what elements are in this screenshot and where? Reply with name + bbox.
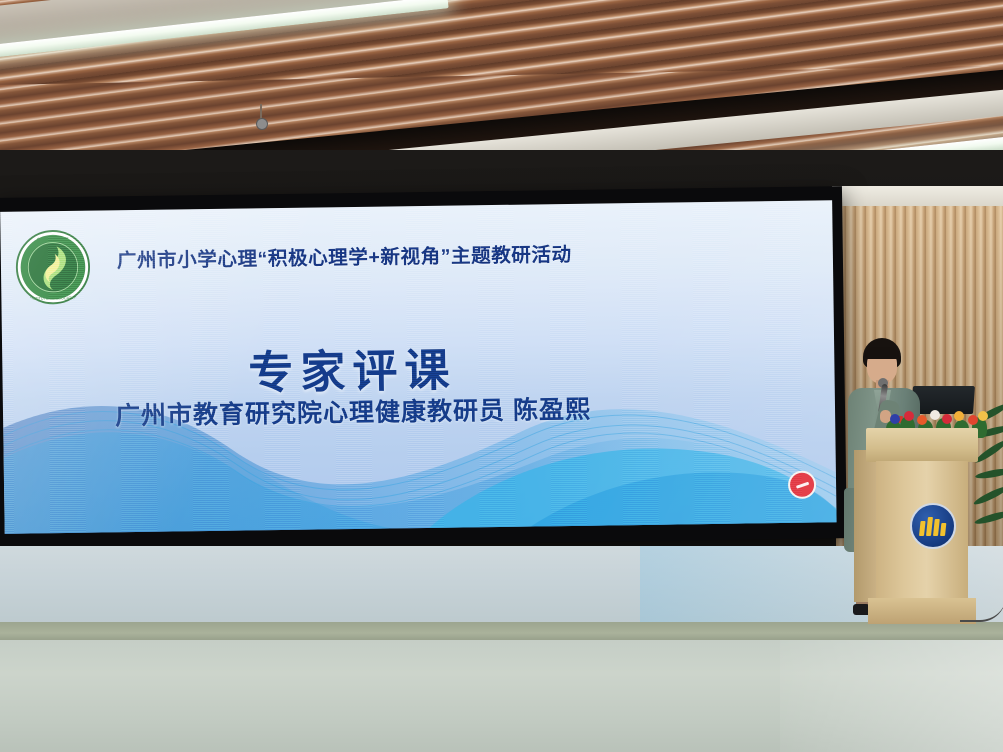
smoke-detector-icon [256,118,268,130]
guangzhou-institute-of-educational-research-logo: 广州市教育研究院 INSTITUTE OF EDUCATION [14,229,91,306]
led-screen-bezel: 广州市教育研究院 INSTITUTE OF EDUCATION 广州市小学心理“… [0,186,847,550]
led-screen: 广州市教育研究院 INSTITUTE OF EDUCATION 广州市小学心理“… [0,200,836,534]
svg-text:INSTITUTE OF EDUCATION: INSTITUTE OF EDUCATION [29,296,78,301]
conference-hall-photo: 广州市教育研究院 INSTITUTE OF EDUCATION 广州市小学心理“… [0,0,1003,752]
hall-floor [0,640,1003,752]
podium-top [866,428,978,462]
slide-header-text: 广州市小学心理“积极心理学+新视角”主题教研活动 [117,235,777,273]
emblem-book-shapes [919,517,947,536]
podium-front [876,461,968,601]
podium-side-panel [854,450,876,602]
svg-text:广州市教育研究院: 广州市教育研究院 [37,236,69,241]
school-crest-emblem [910,503,956,549]
presenter-fringe [865,347,899,359]
